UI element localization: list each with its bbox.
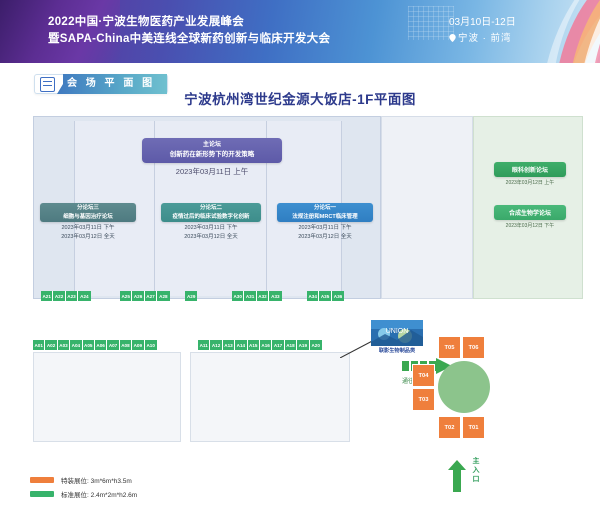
- booth-A18[interactable]: A18: [285, 340, 297, 350]
- main-forum-box[interactable]: 主论坛 创新药在新形势下的开发策略: [142, 138, 282, 163]
- booth-A23[interactable]: A23: [66, 291, 78, 301]
- sub-forum-1-date2: 2023年03月12日 全天: [277, 233, 373, 242]
- booth-A08[interactable]: A08: [120, 340, 132, 350]
- page-title: 宁波杭州湾世纪金源大饭店-1F平面图: [0, 88, 600, 108]
- sub-forum-3-date1: 2023年03月11日 下午: [40, 224, 136, 233]
- booth-A27[interactable]: A27: [145, 291, 157, 301]
- booth-T02[interactable]: T02: [438, 416, 461, 439]
- arrow-up-icon: [448, 460, 466, 492]
- sub-forum-3-date2: 2023年03月12日 全天: [40, 233, 136, 242]
- booth-row-upper-2: A25 A26 A27 A28: [120, 291, 170, 301]
- booth-T04[interactable]: T04: [412, 364, 435, 387]
- svg-text:UNION: UNION: [386, 328, 409, 335]
- booth-A36[interactable]: A36: [332, 291, 344, 301]
- booth-A24[interactable]: A24: [78, 291, 90, 301]
- booth-A26[interactable]: A26: [132, 291, 144, 301]
- banner-title-line2: 暨SAPA-China中美连线全球新药创新与临床开发大会: [48, 31, 330, 48]
- booth-A09[interactable]: A09: [132, 340, 144, 350]
- booth-A20[interactable]: A20: [310, 340, 322, 350]
- booth-A21[interactable]: A21: [41, 291, 53, 301]
- sub-forum-1-date1: 2023年03月11日 下午: [277, 224, 373, 233]
- floor-plan-canvas: 主论坛 创新药在新形势下的开发策略 2023年03月11日 上午 分论坛三 细胞…: [0, 108, 600, 505]
- sub-forum-3-dates: 2023年03月11日 下午 2023年03月12日 全天: [40, 224, 136, 242]
- united-imaging-logo[interactable]: UNION: [371, 320, 423, 346]
- booth-A29[interactable]: A29: [185, 291, 197, 301]
- booth-A05[interactable]: A05: [83, 340, 95, 350]
- booth-A06[interactable]: A06: [95, 340, 107, 350]
- legend: 特装展位: 3m*6m*h3.5m 标准展位: 2.4m*2m*h2.6m: [30, 475, 137, 503]
- banner-title: 2022中国·宁波生物医药产业发展峰会 暨SAPA-China中美连线全球新药创…: [48, 14, 330, 49]
- main-forum-subtitle: 创新药在新形势下的开发策略: [170, 150, 255, 160]
- synthetic-biology-forum-date: 2023年03月12日 下午: [494, 222, 566, 229]
- booth-A25[interactable]: A25: [120, 291, 132, 301]
- banner-title-line1: 2022中国·宁波生物医药产业发展峰会: [48, 14, 330, 31]
- legend-swatch-standard: [30, 491, 54, 497]
- sub-forum-2-dates: 2023年03月11日 下午 2023年03月12日 全天: [161, 224, 261, 242]
- booth-A17[interactable]: A17: [272, 340, 284, 350]
- banner-meta: 03月10日-12日 宁波 · 前湾: [449, 14, 516, 47]
- conference-banner: 2022中国·宁波生物医药产业发展峰会 暨SAPA-China中美连线全球新药创…: [0, 0, 600, 63]
- banner-location: 宁波 · 前湾: [458, 33, 511, 44]
- corridor-block: [381, 116, 473, 299]
- sub-forum-2-box[interactable]: 分论坛二 疫情过后的临床试验数字化创新: [161, 203, 261, 222]
- booth-A19[interactable]: A19: [297, 340, 309, 350]
- legend-text-special: 特装展位: 3m*6m*h3.5m: [61, 475, 132, 485]
- booth-A30[interactable]: A30: [232, 291, 244, 301]
- booth-A10[interactable]: A10: [145, 340, 157, 350]
- sub-forum-1-box[interactable]: 分论坛一 法规注册和MRCT临床管理: [277, 203, 373, 222]
- booth-A31[interactable]: A31: [244, 291, 256, 301]
- booth-A02[interactable]: A02: [45, 340, 57, 350]
- synthetic-biology-forum-box[interactable]: 合成生物学论坛: [494, 205, 566, 220]
- booth-row-lower-1: A01 A02 A03 A04 A05 A06 A07 A08 A09 A10: [33, 340, 157, 350]
- sub-forum-3-box[interactable]: 分论坛三 细胞与基因治疗论坛: [40, 203, 136, 222]
- stage-circle: [438, 361, 490, 413]
- map-pin-icon: [449, 34, 456, 42]
- booth-A28[interactable]: A28: [157, 291, 169, 301]
- sub-forum-1-dates: 2023年03月11日 下午 2023年03月12日 全天: [277, 224, 373, 242]
- exhibitor-logo-caption: 联影生物制品类: [362, 347, 432, 354]
- booth-T01[interactable]: T01: [462, 416, 485, 439]
- booth-A34[interactable]: A34: [307, 291, 319, 301]
- sub-forum-1-subtitle: 法规注册和MRCT临床管理: [292, 213, 357, 221]
- banner-grid-texture: [408, 6, 454, 40]
- booth-A14[interactable]: A14: [235, 340, 247, 350]
- booth-A15[interactable]: A15: [248, 340, 260, 350]
- booth-A35[interactable]: A35: [319, 291, 331, 301]
- booth-A32[interactable]: A32: [257, 291, 269, 301]
- booth-T03[interactable]: T03: [412, 388, 435, 411]
- banner-date: 03月10日-12日: [449, 14, 516, 31]
- booth-row-upper-1: A21 A22 A23 A24: [41, 291, 91, 301]
- booth-A03[interactable]: A03: [58, 340, 70, 350]
- legend-swatch-special: [30, 477, 54, 483]
- booth-row-upper-3: A29: [185, 291, 197, 301]
- main-forum-date: 2023年03月11日 上午: [142, 166, 282, 177]
- booth-A04[interactable]: A04: [70, 340, 82, 350]
- sub-forum-2-subtitle: 疫情过后的临床试验数字化创新: [172, 213, 249, 221]
- lower-hall-left: [33, 352, 181, 442]
- booth-A22[interactable]: A22: [53, 291, 65, 301]
- sub-forum-3-title: 分论坛三: [77, 204, 99, 212]
- sub-forum-2-date1: 2023年03月11日 下午: [161, 224, 261, 233]
- sub-forum-1-title: 分论坛一: [314, 204, 336, 212]
- booth-row-lower-2: A11 A12 A13 A14 A15 A16 A17 A18 A19 A20: [198, 340, 322, 350]
- booth-row-upper-5: A34 A35 A36: [307, 291, 344, 301]
- sub-forum-2-date2: 2023年03月12日 全天: [161, 233, 261, 242]
- booth-A07[interactable]: A07: [107, 340, 119, 350]
- banner-location-wrap: 宁波 · 前湾: [449, 31, 516, 47]
- booth-T06[interactable]: T06: [462, 336, 485, 359]
- booth-A33[interactable]: A33: [269, 291, 281, 301]
- legend-row-special: 特装展位: 3m*6m*h3.5m: [30, 475, 137, 485]
- legend-text-standard: 标准展位: 2.4m*2m*h2.6m: [61, 489, 137, 499]
- sub-forum-3-subtitle: 细胞与基因治疗论坛: [63, 213, 113, 221]
- booth-A16[interactable]: A16: [260, 340, 272, 350]
- main-entrance-label: 主入口: [470, 458, 482, 484]
- lower-hall-right: [190, 352, 350, 442]
- main-forum-title: 主论坛: [203, 141, 221, 150]
- legend-row-standard: 标准展位: 2.4m*2m*h2.6m: [30, 489, 137, 499]
- ophthalmology-forum-date: 2023年03月12日 上午: [494, 179, 566, 186]
- booth-A12[interactable]: A12: [210, 340, 222, 350]
- booth-A11[interactable]: A11: [198, 340, 210, 350]
- ophthalmology-forum-box[interactable]: 眼科创新论坛: [494, 162, 566, 177]
- sub-forum-2-title: 分论坛二: [200, 204, 222, 212]
- booth-A13[interactable]: A13: [223, 340, 235, 350]
- booth-row-upper-4: A30 A31 A32 A33: [232, 291, 282, 301]
- booth-T05[interactable]: T05: [438, 336, 461, 359]
- booth-A01[interactable]: A01: [33, 340, 45, 350]
